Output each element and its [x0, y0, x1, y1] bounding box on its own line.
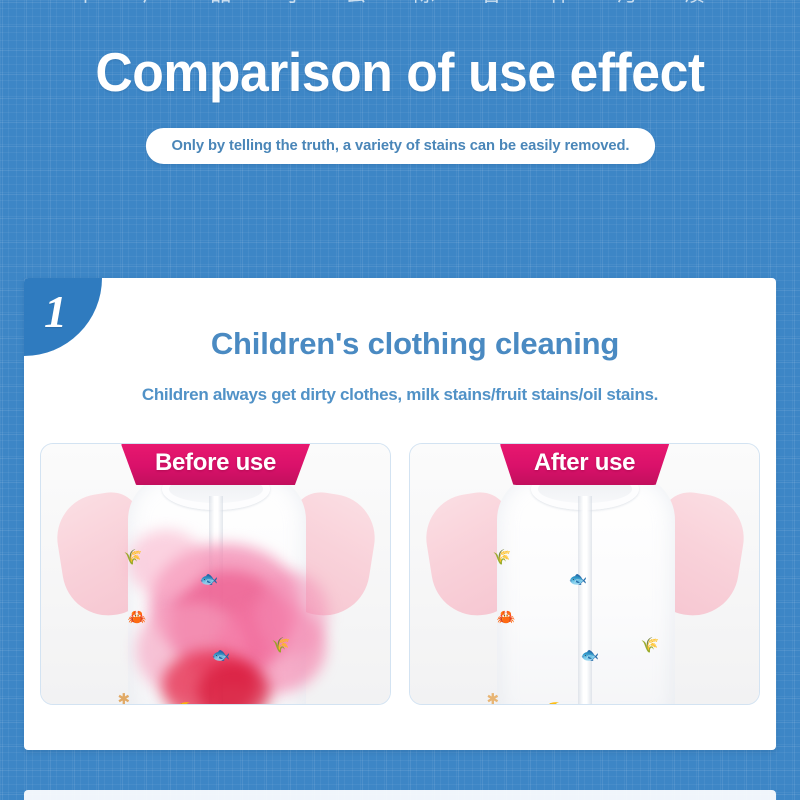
section-card-1: 1 Children's clothing cleaning Children … [24, 278, 776, 750]
romper-illustration-clean: 🌾 🦀 🐟 🐟 🌾 ✱ 🐠 [435, 452, 735, 704]
panel-before-use: Before use [40, 443, 391, 705]
motif-shell: 🐠 [543, 702, 562, 704]
romper-placket [578, 496, 592, 704]
next-section-card-peek [24, 790, 776, 800]
motif-fish-mid: 🐟 [581, 648, 600, 663]
ribbon-before-use: Before use [121, 444, 310, 485]
motif-coral-purple: 🌾 [641, 638, 660, 653]
motif-starfish: ✱ [118, 692, 131, 704]
motif-coral-purple: 🌾 [272, 638, 291, 653]
header-subtitle-pill: Only by telling the truth, a variety of … [145, 128, 654, 164]
section-number: 1 [44, 289, 67, 335]
romper-illustration-stained: 🌾 🦀 🐟 🐟 🌾 ✱ 🐠 [66, 452, 366, 704]
motif-crab: 🦀 [497, 610, 516, 625]
panel-after-use: After use 🌾 🦀 🐟 🐟 🌾 ✱ 🐠 [409, 443, 760, 705]
section-subtitle: Children always get dirty clothes, milk … [24, 385, 776, 405]
motif-coral-blue: 🌾 [493, 550, 512, 565]
page-header: Comparison of use effect Only by telling… [0, 44, 800, 164]
motif-fish-top: 🐟 [200, 572, 219, 587]
section-title: Children's clothing cleaning [24, 326, 776, 362]
motif-shell: 🐠 [174, 702, 193, 704]
motif-fish-mid: 🐟 [212, 648, 231, 663]
top-cropped-text-strip: 本 产 品 可 去 除 各 种 污 渍 [0, 0, 800, 16]
top-strip-glyphs: 本 产 品 可 去 除 各 种 污 渍 [0, 0, 800, 8]
comparison-panels: Before use [40, 443, 760, 705]
motif-coral-blue: 🌾 [124, 550, 143, 565]
motif-fish-top: 🐟 [569, 572, 588, 587]
page-title: Comparison of use effect [24, 44, 776, 102]
motif-starfish: ✱ [487, 692, 500, 704]
motif-crab: 🦀 [128, 610, 147, 625]
ribbon-after-use: After use [500, 444, 669, 485]
